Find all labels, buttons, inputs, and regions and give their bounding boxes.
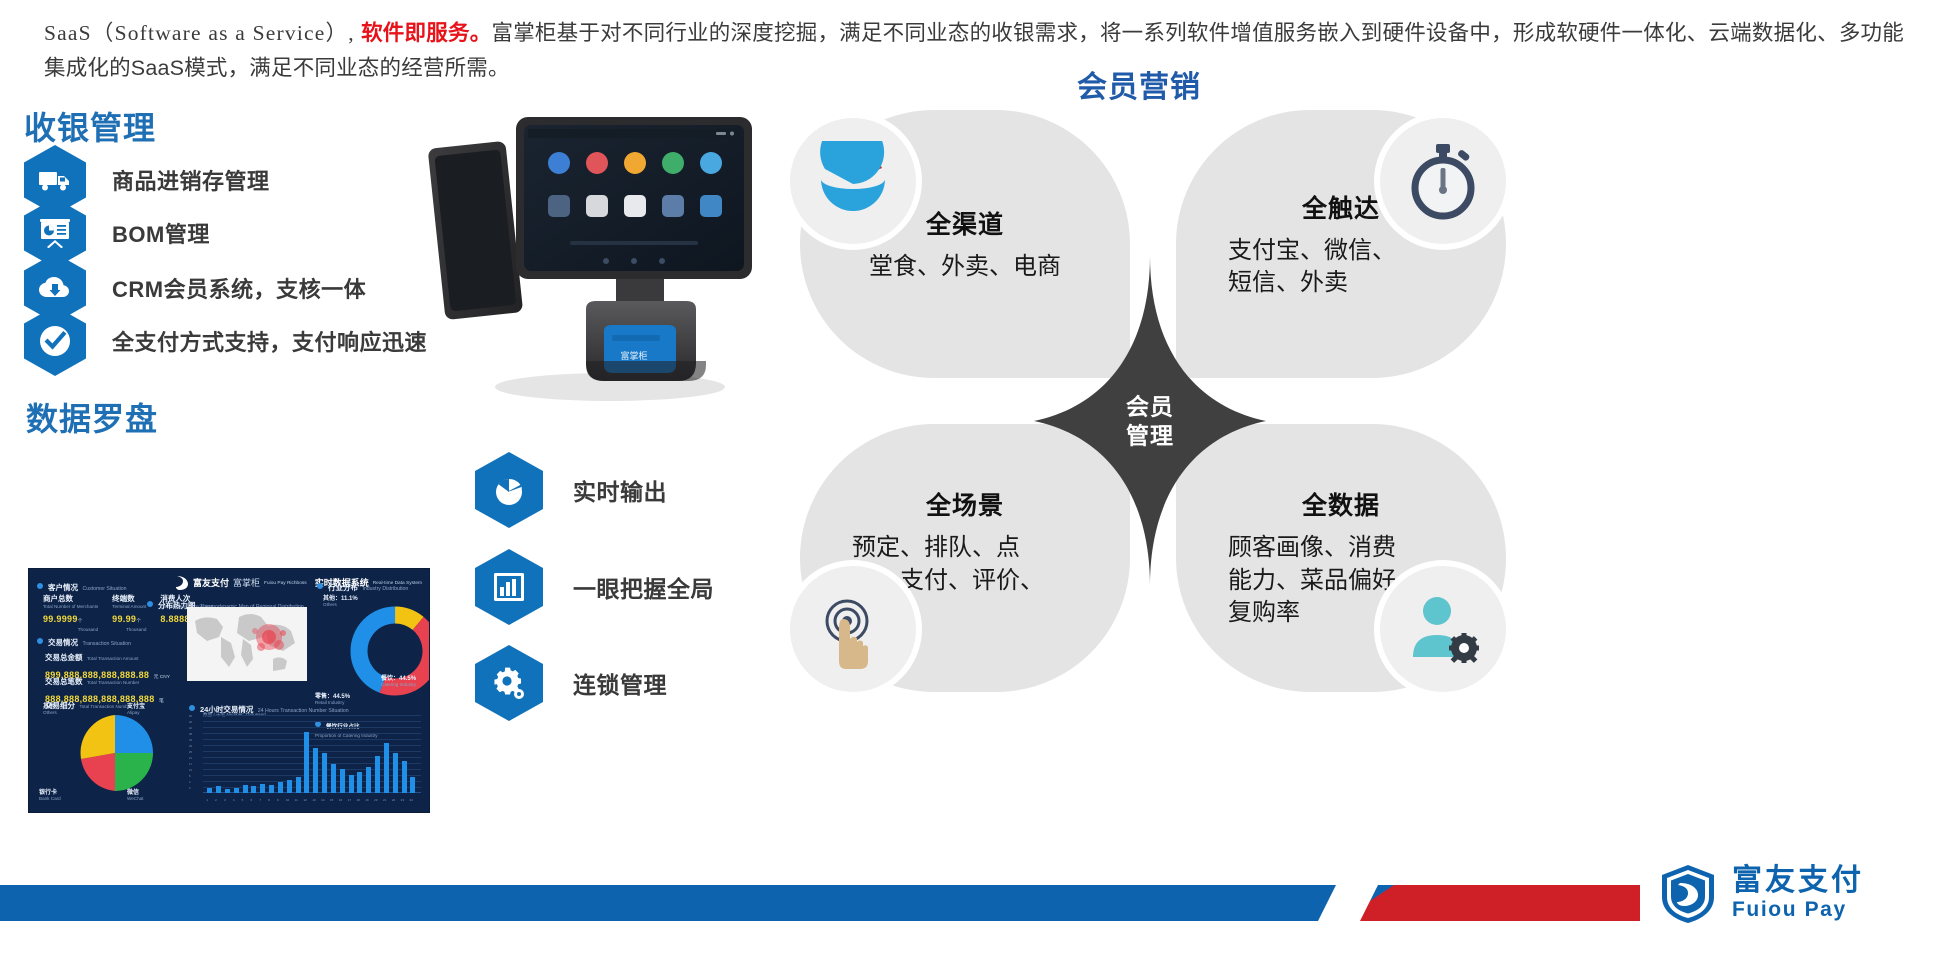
metric-1: 终端数 Terminal Amount 99.99个 Thousand [112, 593, 146, 632]
pie-legend-alipay: 支付宝 Alipay [127, 701, 145, 715]
bar-ytick: 50 [189, 715, 192, 718]
bar-xtick: 13 [312, 798, 315, 802]
list-item-label: 商品进销存管理 [112, 164, 270, 196]
bullet-icon [147, 601, 153, 607]
brand-logo-text: 富友支付 Fuiou Pay [1732, 864, 1864, 923]
bar-xtick: 1 [206, 798, 208, 802]
bar-xtick: 16 [339, 798, 342, 802]
bar-ytick: 38 [189, 733, 192, 736]
bar-xtick: 21 [383, 798, 386, 802]
bar-xtick: 9 [277, 798, 279, 802]
bar-ytick: 17 [189, 763, 192, 766]
list-item-label: BOM管理 [112, 217, 210, 249]
industry-legend-catering: 餐饮：44.5% Catering Industry [381, 673, 416, 687]
pos-terminal-image: 富掌柜 [420, 95, 780, 415]
bar-ytick: 8 [189, 775, 190, 778]
bullet-icon [37, 638, 43, 644]
bar-ytick: 21 [189, 757, 192, 760]
dashboard-brand-sub: 富掌柜 [233, 579, 260, 588]
bar-xtick: 20 [374, 798, 377, 802]
bar-xtick: 14 [321, 798, 324, 802]
bar [340, 769, 345, 793]
bar [393, 753, 398, 793]
bar-xtick: 6 [250, 798, 252, 802]
bar [234, 788, 239, 793]
bar [366, 767, 371, 793]
slide-canvas: SaaS（Software as a Service）, 软件即服务。富掌柜基于… [0, 0, 1945, 976]
bar-ytick: 29 [189, 745, 192, 748]
bar-xtick: 3 [224, 798, 226, 802]
heatmap-image [187, 607, 307, 681]
list-item-cashier-3[interactable]: 全支付方式支持，支付响应迅速 [24, 306, 427, 376]
intro-highlight: 软件即服务。 [361, 21, 491, 45]
bar-ytick: 13 [189, 769, 192, 772]
bullet-icon [37, 583, 43, 589]
page-title-dashboard: 数据罗盘 [26, 394, 158, 440]
bar [410, 777, 415, 793]
center-star-label: 会员 管理 [1034, 392, 1266, 450]
bar-xtick: 11 [295, 798, 298, 802]
bar-xtick: 24 [409, 798, 412, 802]
bar [278, 782, 283, 793]
intro-english: SaaS（Software as a Service）, [44, 21, 355, 45]
list-item-dashboard-2[interactable]: 连锁管理 [475, 645, 667, 721]
bar [207, 788, 212, 793]
bar-xtick: 5 [242, 798, 244, 802]
list-item-label: 全支付方式支持，支付响应迅速 [112, 325, 427, 357]
bar-ytick: 4 [189, 781, 190, 784]
bar [251, 786, 256, 793]
bar-xtick: 18 [356, 798, 359, 802]
fuiou-logo-icon [1658, 863, 1718, 925]
bar [296, 777, 301, 793]
list-item-dashboard-0[interactable]: 实时输出 [475, 452, 667, 528]
bar-ytick: 46 [189, 721, 192, 724]
gear-icon [475, 645, 543, 721]
footer: 富友支付 Fuiou Pay [0, 885, 1945, 976]
brand-logo: 富友支付 Fuiou Pay [1658, 863, 1864, 925]
center-star-shape: 会员 管理 [1034, 256, 1266, 586]
bar-xtick: 4 [233, 798, 235, 802]
bar [313, 748, 318, 793]
pie-chart-icon [475, 452, 543, 528]
bar-xtick: 17 [348, 798, 351, 802]
bar-chart-icon [475, 549, 543, 625]
list-item-label: 一眼把握全局 [573, 570, 714, 604]
list-item-label: CRM会员系统，支核一体 [112, 272, 366, 304]
bar-xtick: 15 [330, 798, 333, 802]
bar [331, 764, 336, 793]
bullet-icon [189, 705, 195, 711]
hours-bar-chart: 123456789101112131415161718192021222324 … [189, 715, 421, 803]
list-item-dashboard-1[interactable]: 一眼把握全局 [475, 549, 714, 625]
check-circle-icon [24, 306, 86, 376]
bar [402, 761, 407, 793]
member-marketing-diagram: 全渠道 堂食、外卖、电商 全触达 支付宝、微信、 短信、外卖 全场景 预定、排队… [790, 100, 1490, 720]
bar-xtick: 7 [259, 798, 261, 802]
dashboard-brand-cn: 富友支付 [193, 579, 229, 588]
bar [269, 785, 274, 793]
bar-xtick: 2 [215, 798, 217, 802]
bar-ytick: 25 [189, 751, 192, 754]
brand-logo-en: Fuiou Pay [1732, 897, 1864, 923]
list-item-label: 实时输出 [573, 473, 667, 507]
bar [216, 786, 221, 793]
list-item-label: 连锁管理 [573, 666, 667, 700]
pie-legend-bankcard: 银行卡 Bank Card [39, 787, 61, 801]
bar [357, 772, 362, 793]
bar-ytick: 42 [189, 727, 192, 730]
bar-ytick: 0 [189, 787, 190, 790]
bar [304, 732, 309, 793]
bar [260, 784, 265, 793]
brand-logo-cn: 富友支付 [1732, 864, 1864, 897]
bar [375, 756, 380, 793]
intro-paragraph: SaaS（Software as a Service）, 软件即服务。富掌柜基于… [44, 16, 1904, 86]
bar-xtick: 19 [365, 798, 368, 802]
bar [287, 780, 292, 793]
user-settings-icon [1380, 566, 1506, 692]
transaction-split-pie-chart: 支付宝 Alipay 微信 WeChat 银行卡 Bank Card 其他 Ot… [73, 711, 157, 795]
svg-text:富掌柜: 富掌柜 [620, 350, 647, 361]
dashboard-brand-en: Fuiou Pay Richboss [264, 581, 307, 586]
bar-xtick: 12 [303, 798, 306, 802]
bar [243, 785, 248, 793]
bar [384, 743, 389, 793]
metric-0: 商户总数 Total Number of Merchants 99.9999个 … [43, 593, 98, 632]
touch-tap-icon [790, 566, 916, 692]
dashboard-screenshot: 富友支付 富掌柜 Fuiou Pay Richboss 实时数据系统 Real-… [28, 568, 430, 813]
bar-xtick: 23 [401, 798, 404, 802]
pie-chart-icon [790, 118, 916, 244]
bar [322, 753, 327, 793]
bar-xtick: 8 [268, 798, 270, 802]
bar-xtick: 10 [286, 798, 289, 802]
bar [225, 789, 230, 793]
bullet-icon [317, 583, 323, 589]
pie-legend-wechat: 微信 WeChat [127, 787, 144, 801]
pie-legend-others: 其他 Others [43, 701, 57, 715]
bar-xtick: 22 [392, 798, 395, 802]
bar [349, 775, 354, 793]
stopwatch-icon [1380, 118, 1506, 244]
page-title-cashier: 收银管理 [24, 103, 156, 149]
bar-ytick: 33 [189, 739, 192, 742]
